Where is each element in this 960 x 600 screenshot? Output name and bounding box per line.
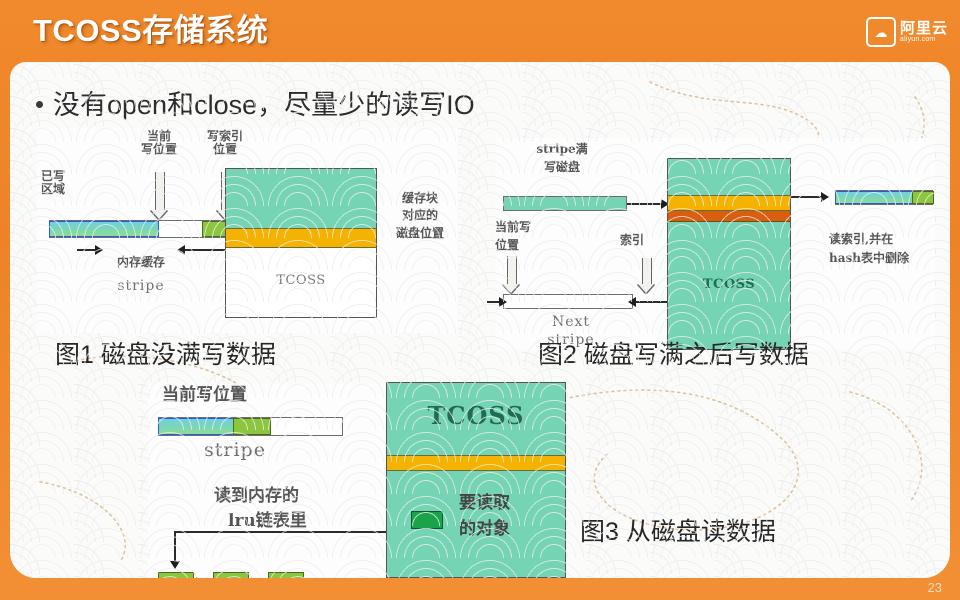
slide-header: TCOSS存储系统 ☁ 阿里云 aliyun.com — [0, 0, 960, 62]
page-title: TCOSS存储系统 — [33, 11, 268, 51]
fig3-stripe-bar — [158, 417, 343, 436]
fig2-next-out-head-icon — [628, 297, 636, 307]
fig1-mem-arrow-line — [77, 249, 97, 251]
fig1-tcoss-label: TCOSS — [226, 273, 376, 288]
slide: TCOSS存储系统 ☁ 阿里云 aliyun.com — [0, 0, 960, 600]
fig2-full-stripe-fill — [504, 197, 626, 210]
fig2-tcoss-orange-band — [668, 195, 790, 211]
fig3-lru-node-3 — [268, 572, 304, 578]
figure-2: stripe满 写磁盘 当前写 位置 — [495, 138, 935, 350]
bullet-dot-icon — [36, 101, 43, 108]
fig2-current-write-pos-label: 当前写 位置 — [495, 218, 565, 254]
fig3-tcoss-orange-band — [387, 455, 565, 471]
fig1-disk-arrow-line — [185, 249, 245, 251]
bullet-item: 没有open和close，尽量少的读写IO — [36, 88, 475, 122]
fig2-full-stripe-bar — [503, 196, 627, 211]
fig3-stripe-label: stripe — [204, 439, 304, 461]
fig2-index-label: 索引 — [607, 234, 657, 247]
fig1-arrow-write-pos-icon — [151, 172, 167, 220]
fig2-next-label: Next — [517, 314, 625, 330]
page-number: 23 — [928, 580, 942, 595]
fig3-lru-node-2 — [213, 572, 249, 578]
logo-name-cn: 阿里云 — [900, 21, 948, 36]
logo-name-en: aliyun.com — [900, 36, 948, 44]
figure-2-caption: 图2 磁盘写满之后写数据 — [538, 340, 809, 370]
fig3-stripe-cyan-segment — [158, 418, 234, 435]
fig1-mem-cache-label: 内存缓存 — [91, 256, 191, 269]
fig3-read-to-memory-label: 读到内存的 lru链表里 — [214, 484, 394, 533]
fig2-read-index-head-icon — [821, 192, 829, 202]
fig2-next-stripe-bar — [503, 294, 633, 309]
figure-3-caption: 图3 从磁盘读数据 — [580, 517, 776, 547]
fig3-lru-arrow-1-icon — [196, 577, 204, 578]
fig2-tcoss-label: TCOSS — [668, 277, 790, 292]
fig2-next-stripe-label: stripe — [517, 332, 625, 348]
cloud-mark-icon: ☁ — [866, 17, 896, 47]
fig2-index-stripe-green-segment — [912, 191, 934, 204]
fig1-mem-arrow-head-icon — [95, 245, 103, 255]
fig1-stripe-bar — [49, 220, 229, 238]
fig3-target-object-label: 要读取 的对象 — [459, 491, 559, 542]
fig2-next-out-line — [635, 301, 667, 303]
fig2-read-index-label: 读索引,并在 hash表中删除 — [829, 230, 945, 268]
fig1-stripe-label: stripe — [91, 278, 191, 294]
aliyun-logo: ☁ 阿里云 aliyun.com — [866, 17, 948, 47]
fig3-lru-arrow-2-icon — [251, 577, 259, 578]
fig1-written-area-label: 已写 区域 — [41, 170, 87, 197]
fig2-next-in-head-icon — [499, 297, 507, 307]
fig1-current-write-pos-label: 当前 写位置 — [129, 130, 189, 157]
figure-1-caption: 图1 磁盘没满写数据 — [55, 340, 276, 370]
fig2-read-index-line — [791, 196, 823, 198]
fig3-lru-node-1 — [158, 572, 194, 578]
fig3-tcoss-label: TCOSS — [387, 401, 565, 430]
content-panel: 没有open和close，尽量少的读写IO 当前 写位置 写索引 位置 已写 区… — [10, 62, 950, 578]
fig1-stripe-index-segment — [202, 221, 232, 237]
fig3-connector-horizontal — [174, 531, 404, 533]
fig3-target-object-node — [411, 511, 443, 529]
fig2-index-stripe-cyan-segment — [835, 191, 913, 204]
fig2-next-in-line — [487, 301, 501, 303]
fig1-arrow-index-pos-icon — [217, 172, 233, 220]
fig2-stripe-full-label: stripe满 写磁盘 — [517, 140, 607, 176]
fig2-write-to-disk-line — [627, 203, 663, 205]
fig1-tcoss-teal-band — [226, 169, 376, 228]
fig2-arrow-index-icon — [638, 258, 654, 294]
fig1-tcoss-box: TCOSS — [225, 168, 377, 318]
fig1-stripe-written-segment — [49, 221, 159, 237]
bullet-text: 没有open和close，尽量少的读写IO — [53, 88, 475, 122]
fig3-stripe-green-segment — [233, 418, 271, 435]
fig3-tcoss-box: TCOSS 要读取 的对象 — [386, 382, 566, 578]
fig3-current-write-pos-label: 当前写位置 — [162, 386, 322, 405]
decorative-swirl — [10, 62, 950, 578]
figure-1: 当前 写位置 写索引 位置 已写 区域 — [37, 128, 457, 333]
fig3-connector-head-icon — [170, 561, 180, 569]
fig1-disk-position-label: 缓存块 对应的 磁盘位置 — [385, 190, 455, 242]
fig1-tcoss-orange-band — [226, 228, 376, 248]
fig2-index-stripe-bar — [835, 190, 933, 205]
fig2-write-to-disk-head-icon — [661, 199, 669, 209]
fig2-tcoss-darkorange-band — [668, 211, 790, 222]
fig2-arrow-write-pos-icon — [503, 256, 519, 294]
fig3-connector-vertical — [174, 531, 176, 563]
figure-3: 当前写位置 stripe 读到内存的 lru链表里 — [148, 384, 568, 578]
fig1-write-index-pos-label: 写索引 位置 — [195, 130, 255, 157]
fig2-tcoss-box: TCOSS — [667, 158, 791, 350]
fig1-disk-arrow-head-icon — [177, 245, 185, 255]
